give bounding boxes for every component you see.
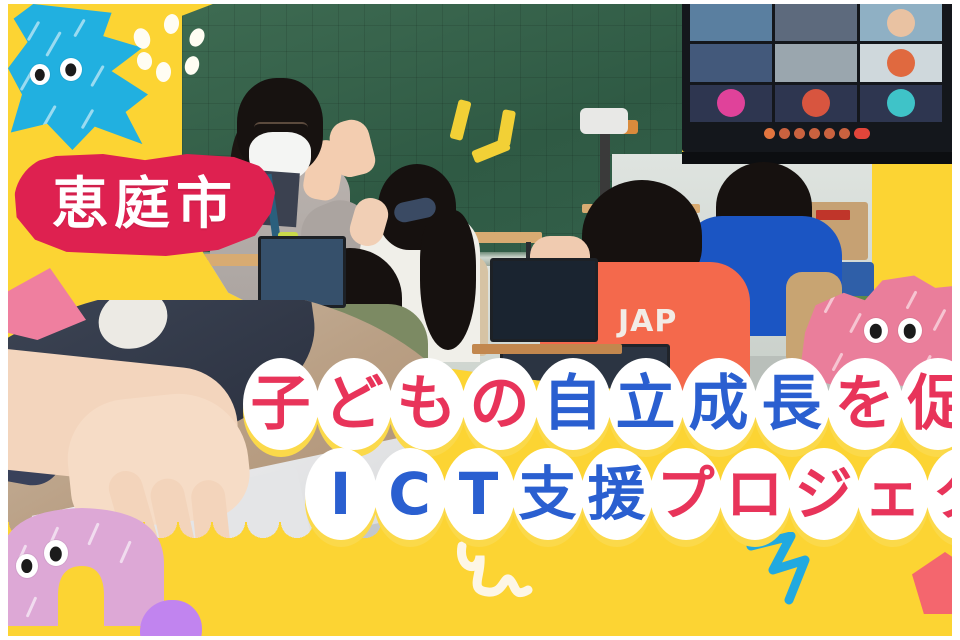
headline-char: 支: [513, 448, 582, 540]
video-tile: [775, 4, 857, 41]
student-desk: [472, 344, 622, 354]
frame-left: [0, 0, 8, 640]
cloud-eye-left: [864, 318, 888, 343]
video-tile: [690, 44, 772, 81]
char-glyph: を: [835, 374, 895, 434]
white-squiggle-shape: [452, 540, 544, 606]
frame-bottom: [0, 636, 960, 640]
arch-eye-left: [16, 554, 38, 578]
banner-canvas: JAP: [0, 0, 960, 640]
char-glyph: 子: [251, 374, 311, 434]
document-camera-head: [580, 108, 628, 134]
headline-char: も: [390, 358, 463, 450]
video-tile: [860, 44, 942, 81]
headline-line-1: 子どもの自立成長を促す: [244, 358, 960, 450]
city-badge-label: 恵庭市: [52, 177, 238, 233]
video-call-toolbar: [752, 126, 882, 140]
student-laptop: [490, 258, 598, 342]
headline-char: ェ: [858, 448, 927, 540]
arch-eye-right: [44, 540, 68, 566]
jersey-text: JAP: [618, 304, 677, 339]
video-tile: [775, 44, 857, 81]
headline-char: 自: [536, 358, 609, 450]
headline-char: 立: [609, 358, 682, 450]
headline-char: 成: [682, 358, 755, 450]
video-tile: [860, 85, 942, 122]
char-glyph: 成: [689, 374, 749, 434]
video-tile: [860, 4, 942, 41]
char-glyph: ど: [324, 374, 384, 434]
char-glyph: T: [459, 465, 499, 523]
char-glyph: 立: [616, 374, 676, 434]
video-tile: [690, 85, 772, 122]
char-glyph: 援: [587, 465, 645, 523]
char-glyph: I: [330, 465, 352, 523]
char-glyph: ロ: [725, 465, 783, 523]
headline-char: 長: [755, 358, 828, 450]
student-laptop: [258, 236, 346, 308]
frame-right: [952, 0, 960, 640]
char-glyph: ェ: [863, 465, 921, 523]
star-eye-right: [60, 58, 82, 81]
headline-char: の: [463, 358, 536, 450]
frame-top: [0, 0, 960, 4]
city-badge: 恵庭市: [14, 154, 276, 256]
headline-char: I: [306, 448, 375, 540]
video-call-grid: [690, 4, 942, 122]
video-tile: [690, 4, 772, 41]
headline-char: 子: [244, 358, 317, 450]
headline-char: 援: [582, 448, 651, 540]
headline-char: ど: [317, 358, 390, 450]
char-glyph: ジ: [794, 465, 852, 523]
display-bezel: [682, 152, 952, 164]
headline-line-2: ICT支援プロジェクト: [306, 448, 960, 540]
char-glyph: 自: [543, 374, 603, 434]
char-glyph: 長: [762, 374, 822, 434]
star-eye-left: [30, 64, 50, 85]
headline-char: T: [444, 448, 513, 540]
char-glyph: の: [470, 374, 530, 434]
char-glyph: も: [397, 374, 457, 434]
char-glyph: プ: [656, 465, 714, 523]
cloud-eye-right: [898, 318, 922, 343]
headline-char: を: [828, 358, 901, 450]
box-tape: [816, 210, 850, 220]
headline-char: ロ: [720, 448, 789, 540]
student-girl-ponytail: [420, 210, 476, 350]
wall-display: [682, 4, 952, 152]
char-glyph: C: [388, 465, 431, 523]
char-glyph: 支: [518, 465, 576, 523]
headline-char: ジ: [789, 448, 858, 540]
video-tile: [775, 85, 857, 122]
headline-char: C: [375, 448, 444, 540]
headline-char: プ: [651, 448, 720, 540]
